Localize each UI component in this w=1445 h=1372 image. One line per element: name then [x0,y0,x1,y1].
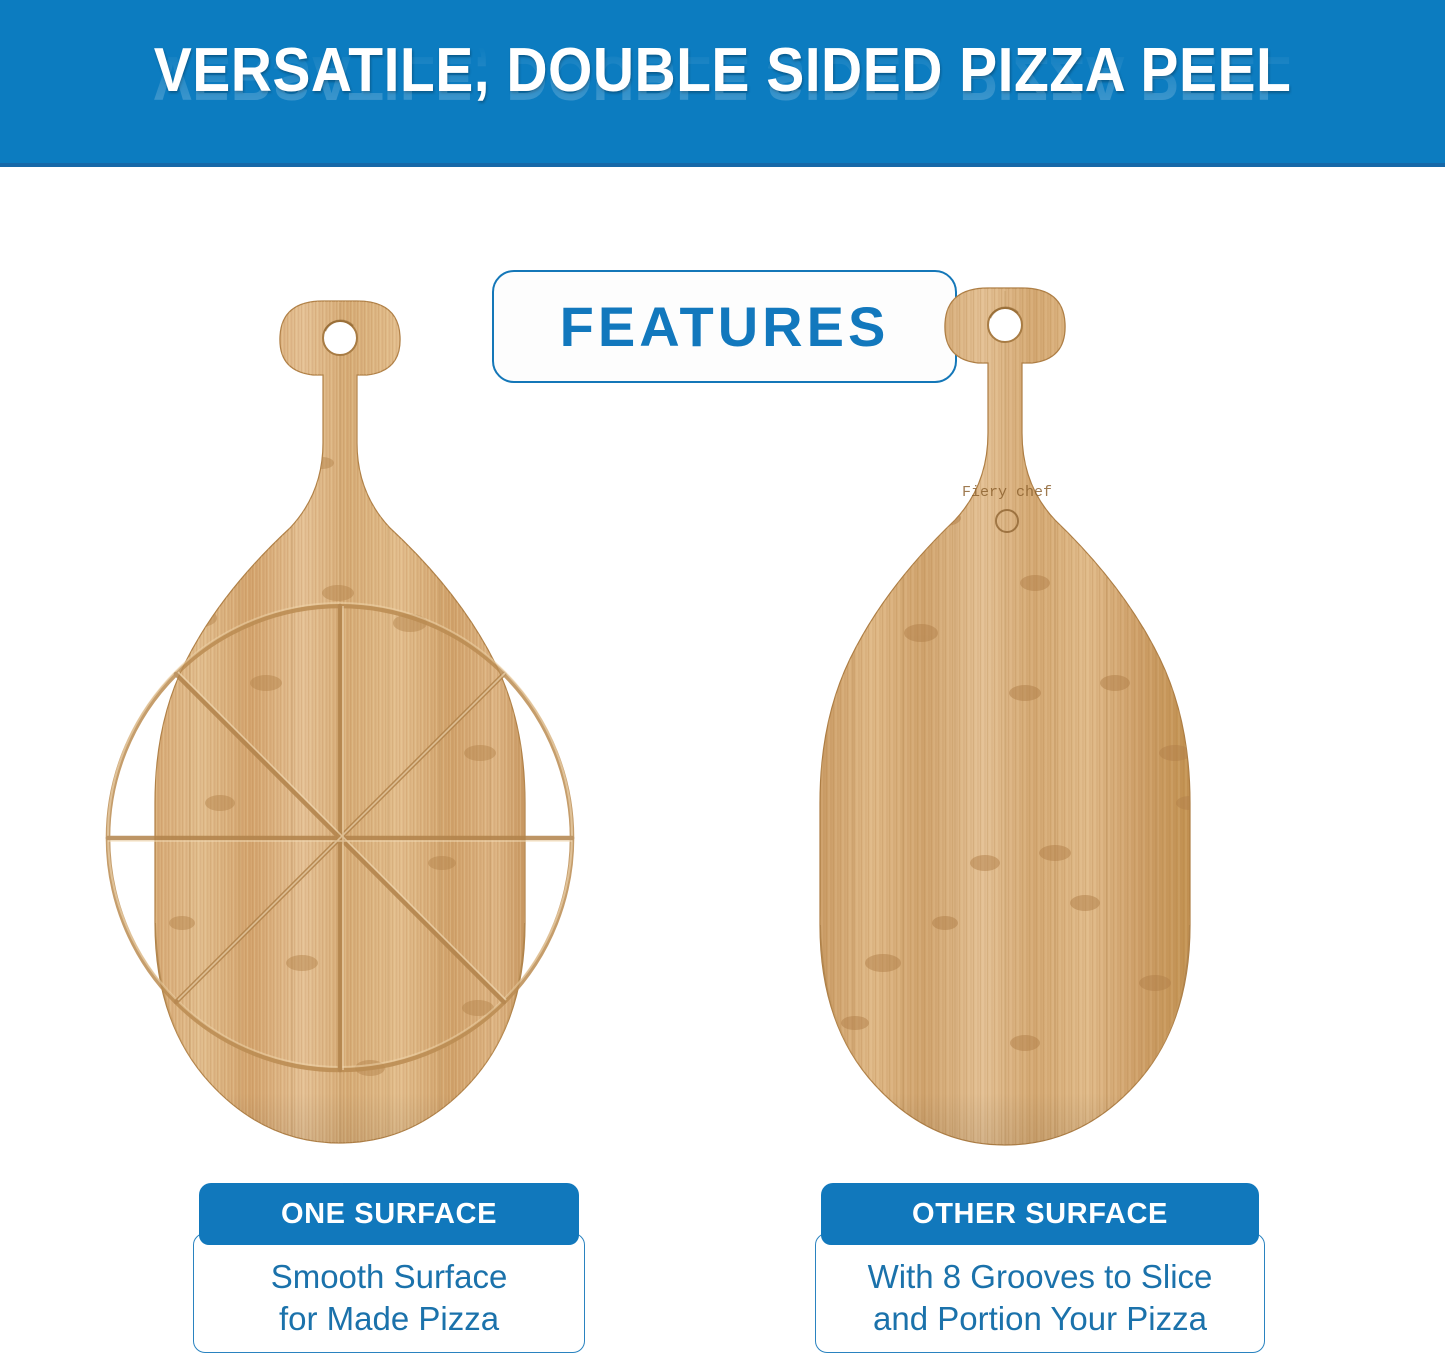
wood-grain-right [735,163,1355,1173]
caption-card-other-surface: OTHER SURFACE With 8 Grooves to Slice an… [815,1183,1265,1365]
brand-mark-text: Fiery chef [962,484,1052,501]
caption-heading-other-surface: OTHER SURFACE [821,1183,1259,1245]
caption-heading-one-surface: ONE SURFACE [199,1183,579,1245]
wood-grain-left [70,163,690,1173]
pizza-peel-plain: Fiery chef [735,163,1355,1173]
banner-title: VERSATILE, DOUBLE SIDED PIZZA PEEL [58,36,1387,106]
product-image-area: Fiery chef [0,163,1445,1183]
caption-body-one-surface: Smooth Surface for Made Pizza [193,1233,585,1353]
hang-hole-right [988,308,1022,342]
hang-hole-left [323,321,357,355]
caption-body-other-surface: With 8 Grooves to Slice and Portion Your… [815,1233,1265,1353]
caption-card-one-surface: ONE SURFACE Smooth Surface for Made Pizz… [193,1183,585,1365]
pizza-peel-grooved [70,163,690,1173]
pizza-slice-grooves [108,603,572,1070]
header-banner: VERSATILE, DOUBLE SIDED PIZZA PEEL VERSA… [0,0,1445,167]
